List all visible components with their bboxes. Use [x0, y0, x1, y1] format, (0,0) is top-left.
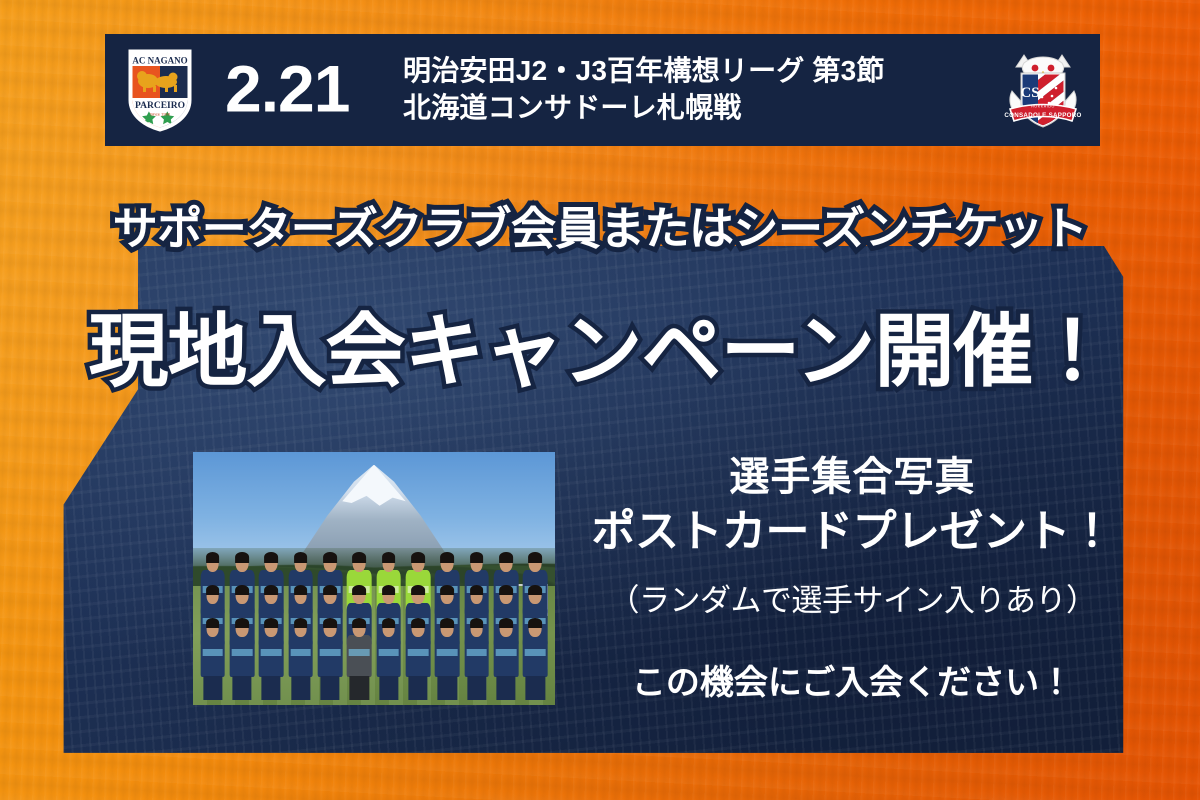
ac-nagano-parceiro-crest-icon: AC NAGANO PARCEIRO Since 1990 — [127, 48, 193, 132]
campaign-poster: AC NAGANO PARCEIRO Since 1990 2.21 明治安田J… — [0, 0, 1200, 800]
match-header-bar: AC NAGANO PARCEIRO Since 1990 2.21 明治安田J… — [105, 34, 1100, 146]
campaign-eyebrow-headline: サポーターズクラブ会員またはシーズンチケット — [0, 192, 1200, 257]
photo-player — [435, 619, 460, 700]
match-info: 明治安田J2・J3百年構想リーグ 第3節 北海道コンサドーレ札幌戦 — [403, 53, 885, 127]
gift-item-line2: ポストカードプレゼント！ — [590, 504, 1115, 559]
photo-player — [230, 619, 255, 700]
photo-player — [288, 619, 313, 700]
photo-player — [494, 619, 519, 700]
match-date: 2.21 — [225, 56, 349, 122]
svg-text:CS: CS — [1020, 85, 1039, 101]
photo-player — [259, 619, 284, 700]
consadole-sapporo-crest-icon: CS CONSADOLE SAPPORO HOKKAIDO — [1004, 47, 1082, 133]
svg-text:CONSADOLE SAPPORO: CONSADOLE SAPPORO — [1004, 112, 1081, 119]
campaign-main-headline: 現地入会キャンペーン開催！ — [0, 287, 1200, 403]
match-opponent: 北海道コンサドーレ札幌戦 — [403, 92, 741, 123]
gift-announcement: 選手集合写真 ポストカードプレゼント！ （ランダムで選手サイン入りあり） — [590, 452, 1115, 621]
photo-player — [406, 619, 431, 700]
photo-player — [464, 619, 489, 700]
photo-front-row — [200, 619, 548, 700]
gift-item-line1: 選手集合写真 — [590, 452, 1115, 502]
svg-text:HOKKAIDO: HOKKAIDO — [1031, 105, 1055, 109]
gift-note: （ランダムで選手サイン入りあり） — [590, 581, 1115, 621]
photo-player — [376, 619, 401, 700]
photo-staff-member — [347, 619, 372, 700]
photo-player — [318, 619, 343, 700]
match-league-round: 明治安田J2・J3百年構想リーグ 第3節 — [403, 55, 885, 86]
svg-text:PARCEIRO: PARCEIRO — [135, 101, 185, 111]
svg-text:Since 1990: Since 1990 — [150, 112, 171, 117]
join-call-to-action: この機会にご入会ください！ — [590, 655, 1115, 704]
svg-text:AC NAGANO: AC NAGANO — [132, 56, 187, 66]
photo-player — [200, 619, 225, 700]
team-group-photo: 選手集合写真（富士山を背景にしたチーム集合写真） — [193, 452, 555, 705]
photo-player — [523, 619, 548, 700]
